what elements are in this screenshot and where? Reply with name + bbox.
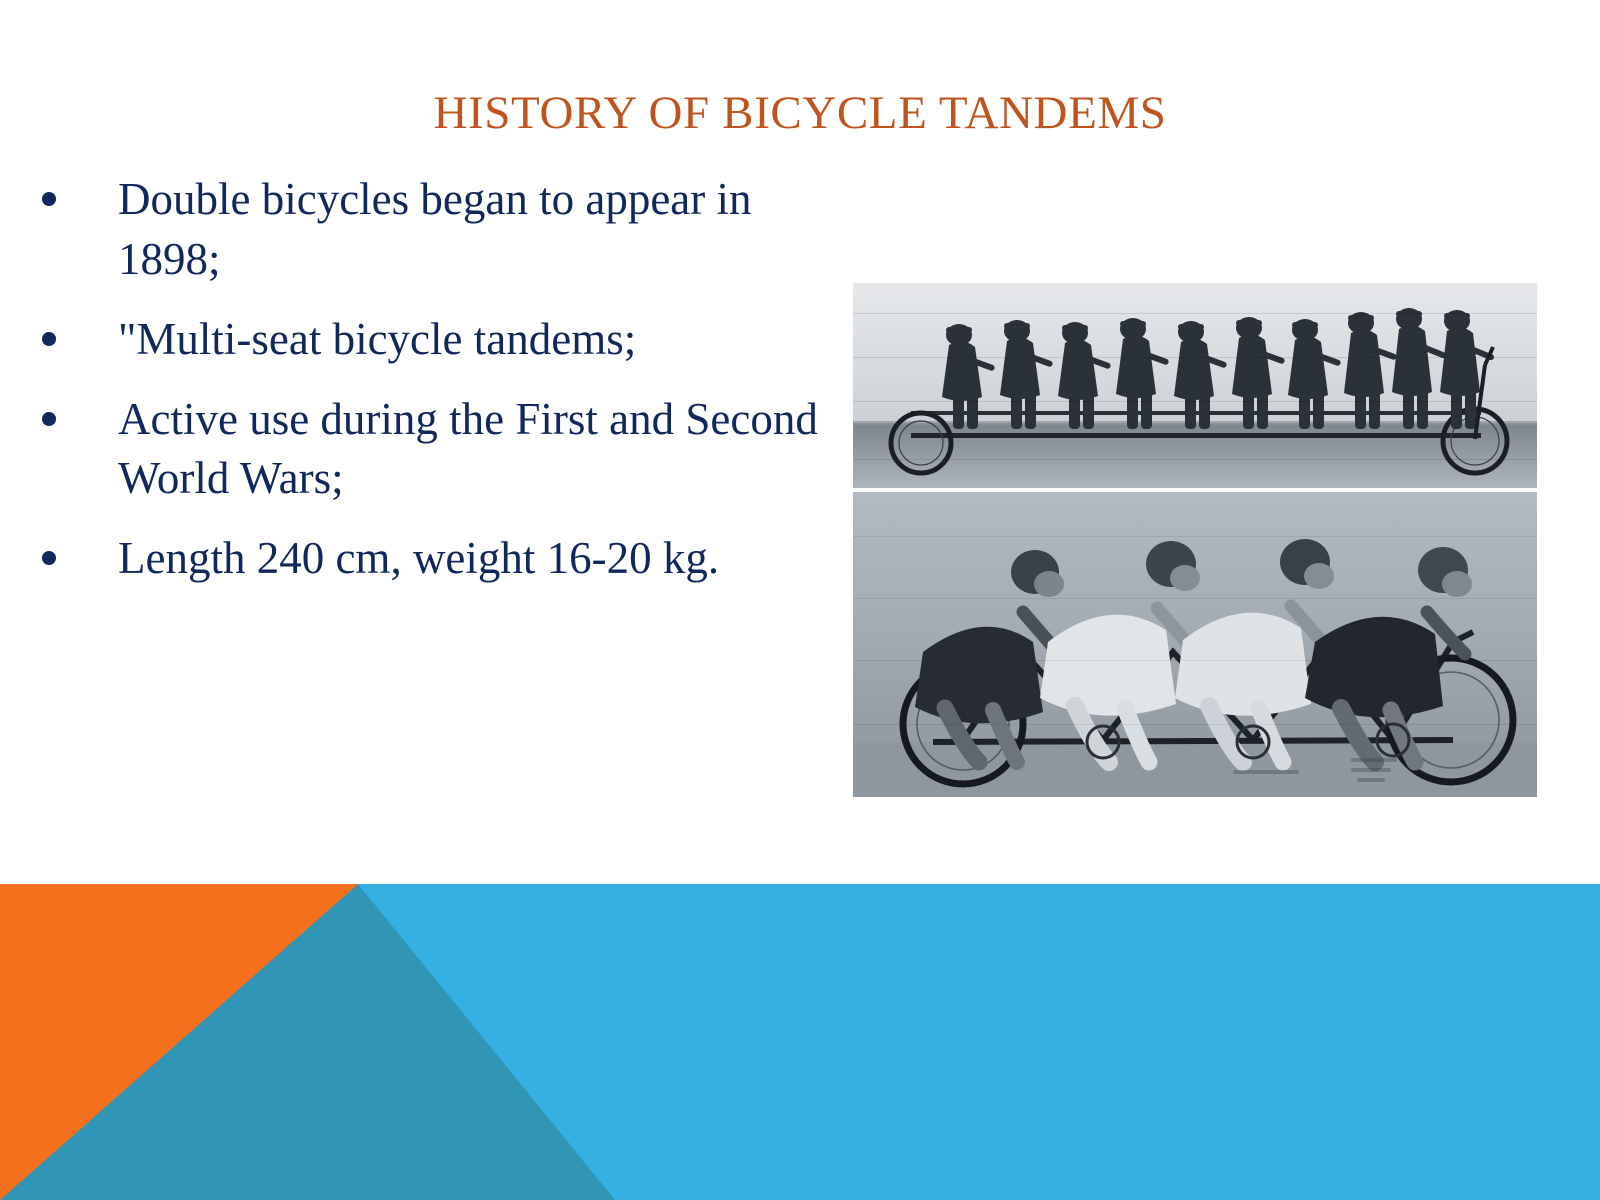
bullet-list: Double bicycles began to appear in 1898;… <box>28 170 858 589</box>
bullet-dot-icon <box>42 332 56 346</box>
page-title: History of bicycle tandems <box>0 88 1600 139</box>
list-item-text: Active use during the First and Second W… <box>118 390 858 510</box>
vintage-ten-seat-tandem-photo <box>853 283 1537 488</box>
list-item: Length 240 cm, weight 16-20 kg. <box>28 529 858 589</box>
list-item-text: "Multi-seat bicycle tandems; <box>118 310 858 370</box>
list-item: Active use during the First and Second W… <box>28 390 858 510</box>
list-item-text: Length 240 cm, weight 16-20 kg. <box>118 529 858 589</box>
photo-stack <box>853 283 1537 797</box>
presentation-slide: History of bicycle tandems Double bicycl… <box>0 0 1600 1200</box>
list-item: Double bicycles began to appear in 1898; <box>28 170 858 290</box>
bottom-geometric-band <box>0 884 1600 1200</box>
list-item-text: Double bicycles began to appear in 1898; <box>118 170 858 290</box>
list-item: "Multi-seat bicycle tandems; <box>28 310 858 370</box>
vintage-four-seat-racing-tandem-photo <box>853 492 1537 797</box>
bullet-dot-icon <box>42 192 56 206</box>
bullet-dot-icon <box>42 412 56 426</box>
bullet-dot-icon <box>42 551 56 565</box>
